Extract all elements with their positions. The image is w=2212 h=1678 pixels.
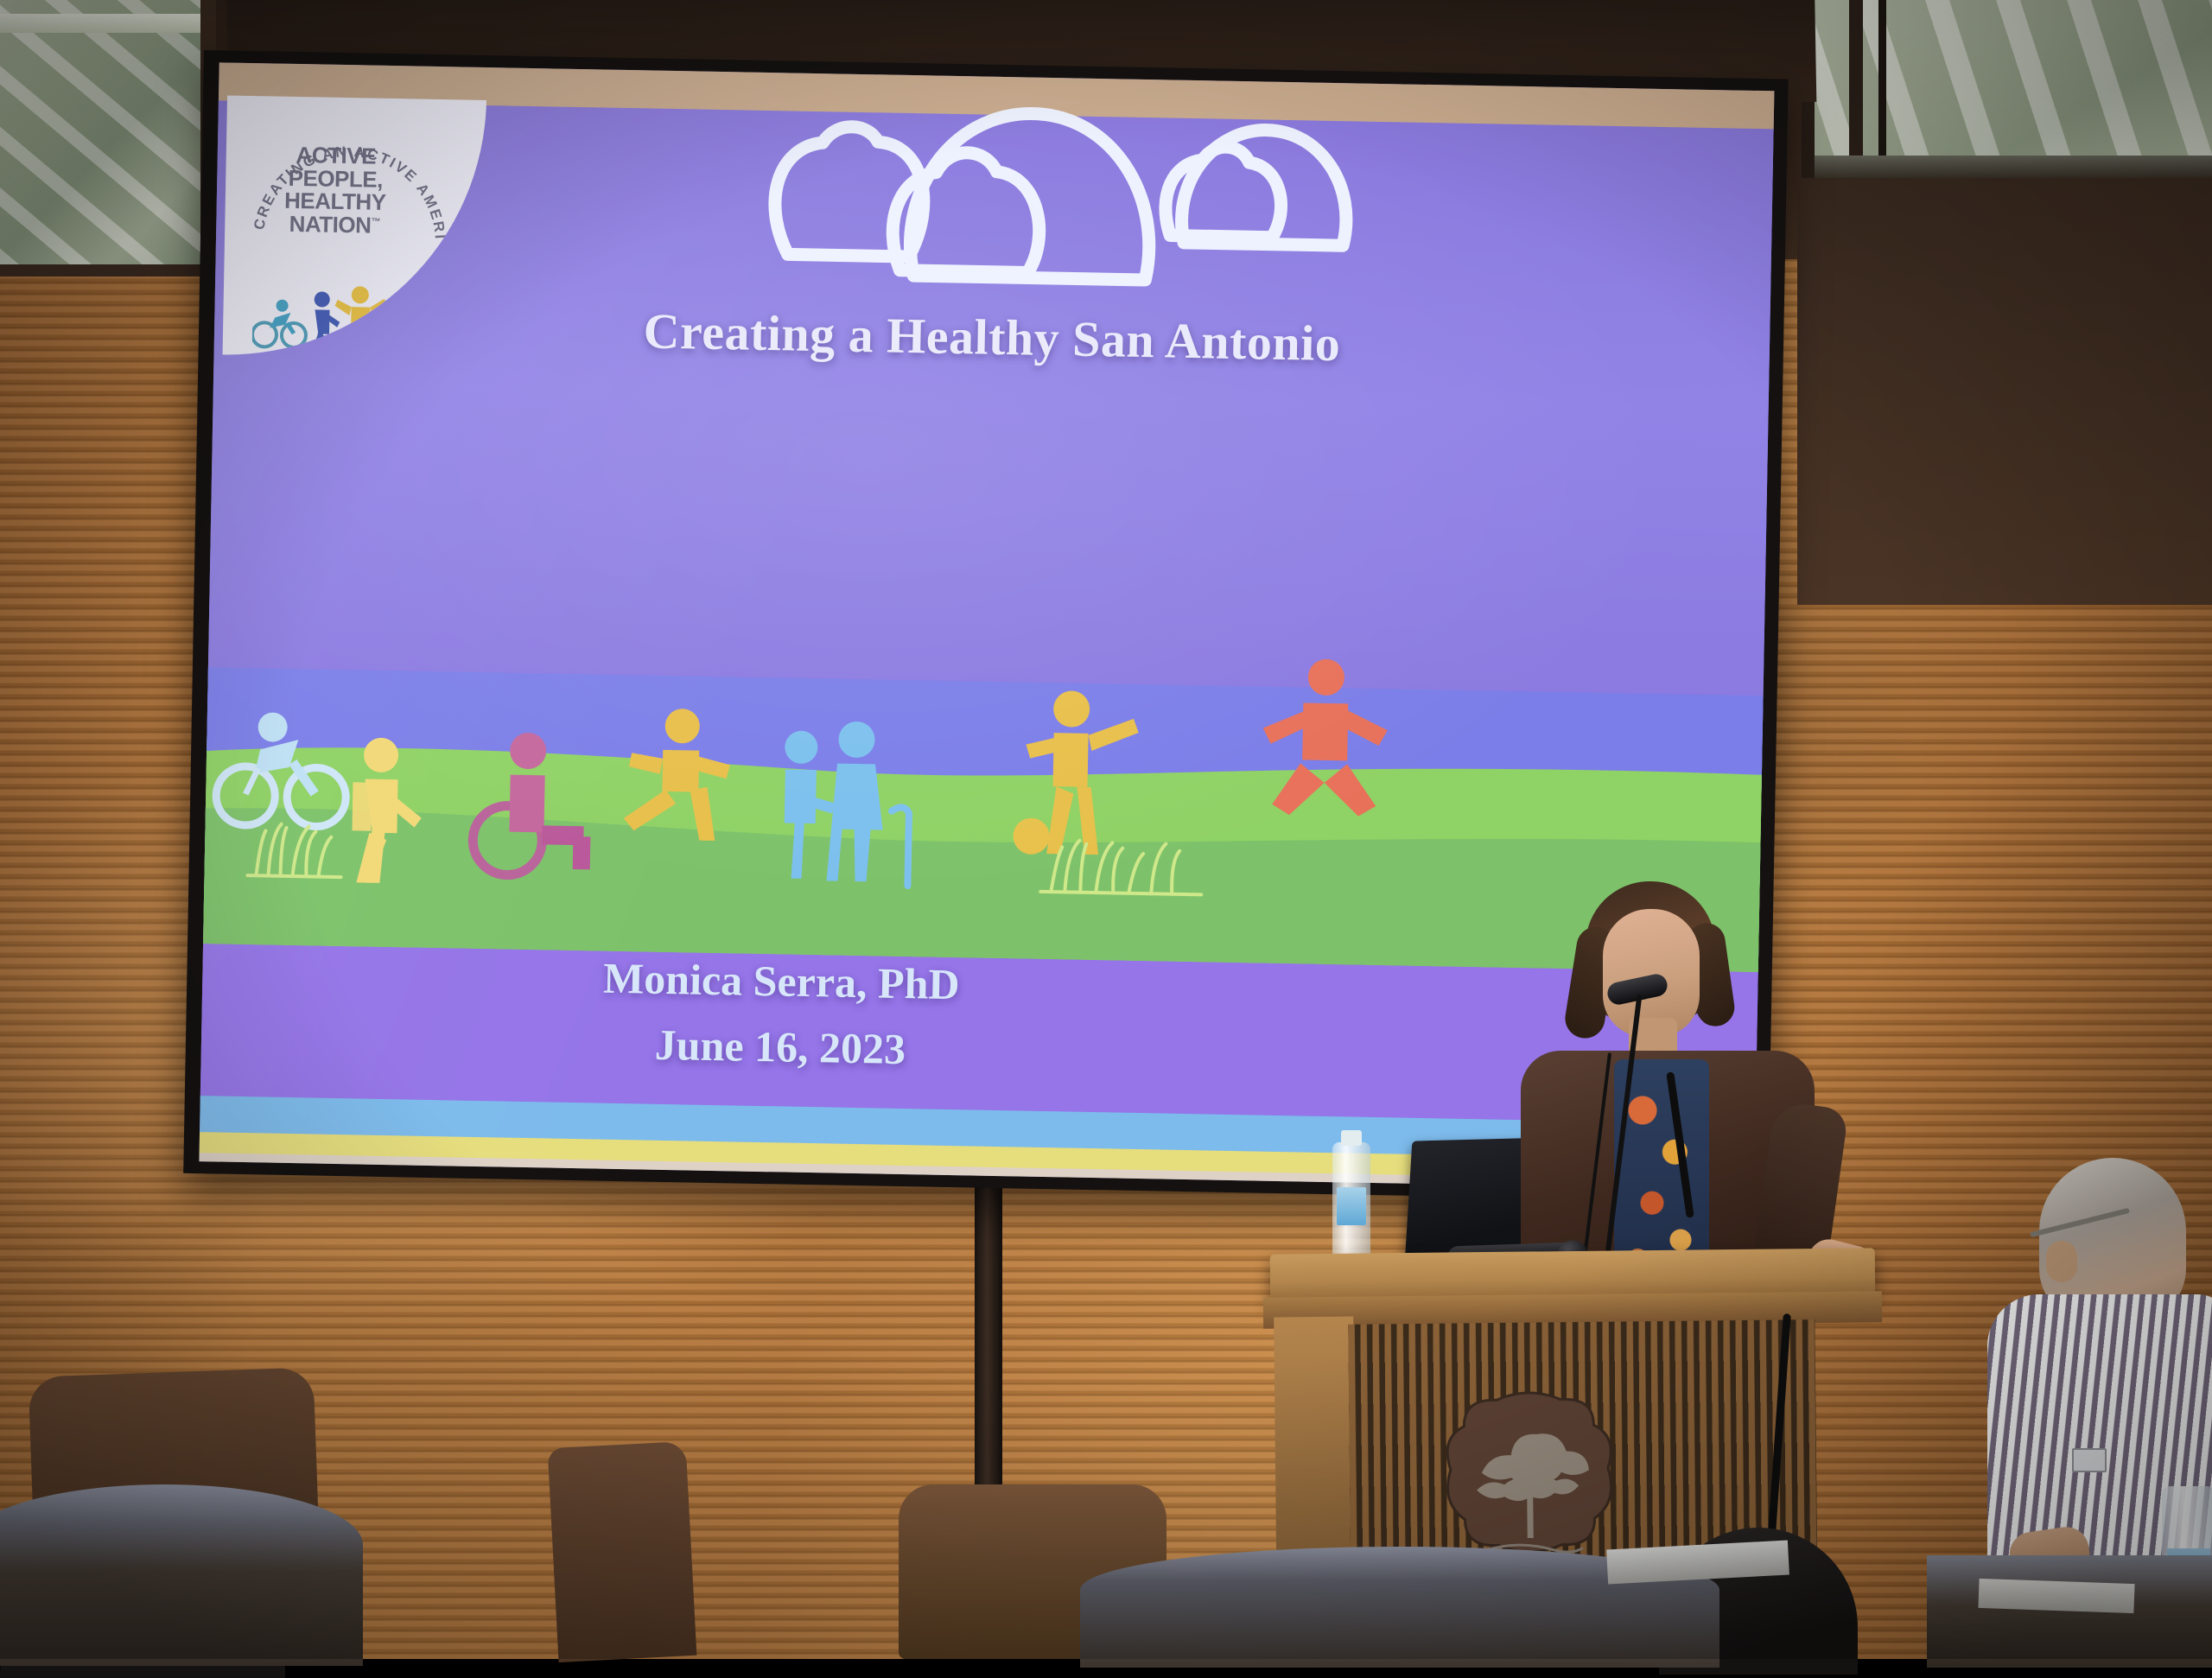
grass-tuft-right	[1040, 840, 1202, 894]
couple-walking-figure	[783, 720, 885, 881]
wheelchair-figure	[473, 732, 593, 876]
grass-tuft-left	[248, 823, 342, 877]
logo-line-1: ACTIVE	[263, 143, 410, 168]
wall-upper-right-dark	[1797, 156, 2212, 605]
name-badge	[2072, 1448, 2107, 1472]
tree-plaque-icon	[1429, 1389, 1630, 1563]
logo-trademark: ™	[371, 216, 380, 226]
water-bottle-podium	[1332, 1142, 1370, 1272]
soccer-ball-icon	[1013, 817, 1050, 855]
room-scene: CREATING AN ACTIVE AMERICA. TOGETHER ACT…	[0, 0, 2212, 1659]
chair-center-left	[548, 1441, 697, 1662]
papers-right	[1978, 1579, 2134, 1613]
audience-ear	[2046, 1241, 2077, 1282]
table-right	[1927, 1555, 2212, 1668]
window-top-right	[1815, 0, 2212, 173]
walker-backpack-figure	[351, 737, 423, 883]
runner-figure	[623, 708, 731, 841]
yoga-stretch-figure	[1262, 658, 1389, 817]
logo-wordmark: ACTIVE PEOPLE, HEALTHY NATION™	[261, 143, 410, 237]
cloud-group-icon	[751, 99, 1376, 291]
window-sill	[1815, 156, 2212, 178]
window-top-left	[0, 0, 216, 276]
cyclist-figure	[216, 711, 347, 827]
window-mullion	[1849, 0, 1863, 173]
walking-cane-icon	[890, 807, 909, 886]
round-table-left	[0, 1484, 363, 1666]
window-mullion-secondary	[1878, 0, 1886, 173]
logo-line-4: NATION™	[261, 212, 408, 238]
